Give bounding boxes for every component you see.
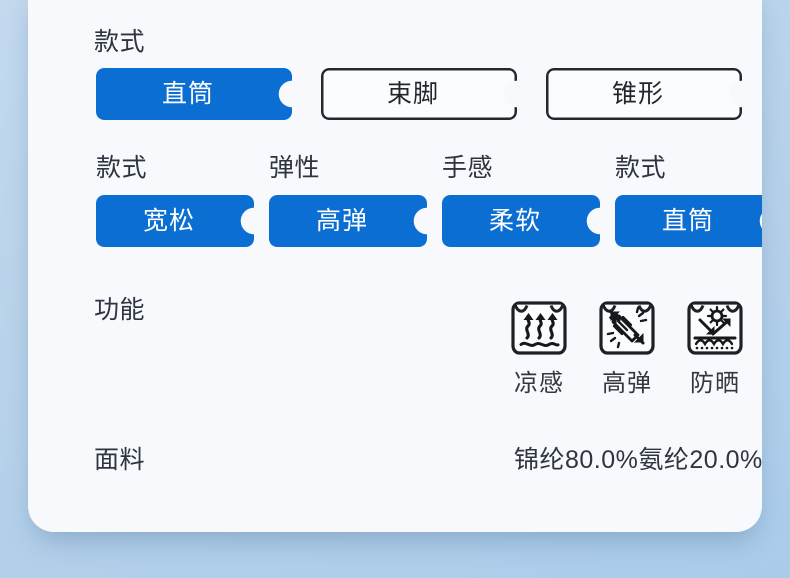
attribute-value-silhouette: 直筒: [662, 209, 714, 234]
function-icon-group: 凉感: [506, 294, 748, 396]
attribute-group: 款式 宽松 弹性 高弹 手感 柔软 款式 直筒: [96, 156, 762, 247]
style-row-label: 款式: [94, 30, 145, 55]
product-attributes-card: 款式 直筒 束脚 锥形 款式 宽松 弹性 高弹: [28, 0, 762, 532]
function-item-sun-protection: 防晒: [682, 294, 748, 396]
attribute-cell-elasticity: 弹性 高弹: [269, 156, 434, 247]
function-item-cooling: 凉感: [506, 294, 572, 396]
style-option-group: 直筒 束脚 锥形: [96, 68, 742, 120]
function-name-sun-protection: 防晒: [690, 372, 740, 396]
style-option-straight-label: 直筒: [162, 82, 214, 107]
card-inner: 款式 直筒 束脚 锥形 款式 宽松 弹性 高弹: [28, 0, 762, 532]
stretch-icon: [594, 294, 660, 360]
function-row-label: 功能: [94, 298, 145, 323]
attribute-label-silhouette: 款式: [615, 156, 762, 181]
attribute-chip-fit[interactable]: 宽松: [96, 195, 254, 247]
style-option-straight[interactable]: 直筒: [96, 68, 292, 120]
attribute-cell-feel: 手感 柔软: [442, 156, 607, 247]
function-name-stretch: 高弹: [602, 372, 652, 396]
attribute-cell-fit: 款式 宽松: [96, 156, 261, 247]
attribute-value-feel: 柔软: [489, 209, 541, 234]
fabric-value: 锦纶80.0%氨纶20.0%: [514, 448, 762, 473]
style-option-cuffed[interactable]: 束脚: [321, 68, 517, 120]
attribute-label-elasticity: 弹性: [269, 156, 434, 181]
style-option-tapered[interactable]: 锥形: [546, 68, 742, 120]
style-option-tapered-label: 锥形: [612, 82, 664, 107]
fabric-label: 面料: [94, 448, 145, 473]
function-name-cooling: 凉感: [514, 372, 564, 396]
attribute-label-feel: 手感: [442, 156, 607, 181]
attribute-cell-silhouette: 款式 直筒: [615, 156, 762, 247]
function-item-stretch: 高弹: [594, 294, 660, 396]
attribute-chip-silhouette[interactable]: 直筒: [615, 195, 762, 247]
sun-protection-icon: [682, 294, 748, 360]
attribute-value-elasticity: 高弹: [316, 209, 368, 234]
attribute-label-fit: 款式: [96, 156, 261, 181]
cooling-icon: [506, 294, 572, 360]
attribute-chip-feel[interactable]: 柔软: [442, 195, 600, 247]
attribute-value-fit: 宽松: [143, 209, 195, 234]
attribute-chip-elasticity[interactable]: 高弹: [269, 195, 427, 247]
style-option-cuffed-label: 束脚: [387, 82, 439, 107]
